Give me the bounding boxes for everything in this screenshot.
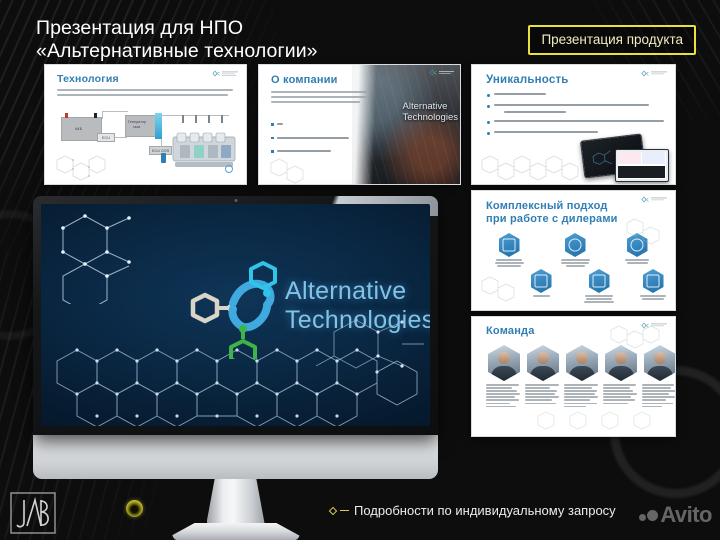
monitor-stand-base bbox=[172, 523, 300, 540]
slide-title-line-2: при работе с дилерами bbox=[486, 213, 618, 226]
list-item bbox=[271, 123, 349, 126]
graduation-cap-hex-icon bbox=[531, 269, 552, 293]
document-hex-icon bbox=[499, 233, 520, 257]
molecule-logo-icon bbox=[167, 259, 287, 359]
bullet-dot-icon bbox=[271, 123, 274, 126]
team-member-bio bbox=[486, 384, 522, 407]
avatar bbox=[488, 345, 520, 381]
monitor-bezel: Alternative Technologies bbox=[33, 196, 438, 435]
engine-illustration bbox=[171, 131, 237, 176]
slide-title: Уникальность bbox=[486, 74, 569, 86]
slide-thumbnail-team[interactable]: Команда bbox=[471, 316, 676, 437]
approach-item-caption bbox=[638, 295, 668, 300]
footnote-text: Подробности по индивидуальному запросу bbox=[354, 503, 616, 518]
bullet-dot-icon bbox=[271, 137, 274, 140]
team-member bbox=[486, 345, 522, 409]
avatar bbox=[527, 345, 559, 381]
list-item bbox=[487, 93, 662, 97]
bullet-dot-icon bbox=[487, 121, 490, 124]
slide-thumbnail-dealer-approach[interactable]: Комплексный подход при работе с дилерами bbox=[471, 190, 676, 311]
title-line-1: Презентация для НПО bbox=[36, 17, 318, 40]
webcam-icon bbox=[234, 199, 237, 202]
approach-item-caption bbox=[584, 295, 614, 303]
monitor-chin bbox=[33, 435, 438, 479]
slide-title-line-1: Комплексный подход bbox=[486, 200, 618, 213]
company-logo-icon bbox=[640, 69, 670, 80]
monitor-screen[interactable]: Alternative Technologies bbox=[41, 204, 430, 426]
slide-title: Команда bbox=[486, 325, 535, 337]
brand-text: Alternative Technologies bbox=[285, 277, 430, 335]
hexagon-pattern-icon bbox=[476, 153, 596, 185]
list-item bbox=[271, 137, 349, 140]
studio-monogram-logo bbox=[10, 492, 56, 534]
avatar bbox=[566, 345, 598, 381]
hexagon-pattern-icon bbox=[51, 153, 111, 185]
company-logo-icon bbox=[640, 195, 670, 206]
approach-item bbox=[638, 269, 668, 301]
workflow-hex-icon bbox=[643, 269, 664, 293]
team-member bbox=[603, 345, 639, 406]
approach-item bbox=[494, 233, 524, 268]
page-title: Презентация для НПО «Альтернативные техн… bbox=[36, 17, 318, 63]
slide-thumbnail-technology[interactable]: Технология АКБ ECU Генератор газа ECU GG… bbox=[44, 64, 247, 185]
photo-brand-text: Alternative Technologies bbox=[403, 101, 458, 123]
company-logo-icon bbox=[428, 68, 458, 79]
hexagon-pattern-icon bbox=[267, 157, 321, 185]
hexagon-pattern-icon bbox=[605, 323, 669, 353]
approach-item-caption bbox=[560, 259, 590, 267]
bullet-dot-icon bbox=[487, 132, 490, 135]
bullet-dot-icon bbox=[271, 150, 274, 153]
product-presentation-badge: Презентация продукта bbox=[528, 25, 696, 55]
list-item bbox=[487, 120, 662, 124]
hexagon-network-icon bbox=[55, 212, 165, 304]
approach-item bbox=[560, 233, 590, 268]
slide-title: О компании bbox=[271, 74, 338, 86]
approach-item bbox=[584, 269, 614, 304]
team-member-bio bbox=[642, 384, 676, 407]
team-member-bio bbox=[564, 384, 600, 407]
team-member bbox=[642, 345, 676, 409]
list-item bbox=[271, 150, 349, 153]
company-logo-icon bbox=[211, 69, 241, 80]
slide-thumbnail-uniqueness[interactable]: Уникальность bbox=[471, 64, 676, 185]
gear-hand-hex-icon bbox=[565, 233, 586, 257]
brand-line-1: Alternative bbox=[285, 277, 430, 306]
avito-watermark: Avito bbox=[639, 502, 712, 528]
hexagon-pattern-icon bbox=[621, 215, 671, 255]
approach-item-caption bbox=[494, 259, 524, 267]
approach-item-caption bbox=[622, 259, 652, 264]
slide-title: Комплексный подход при работе с дилерами bbox=[486, 200, 618, 226]
dash-icon bbox=[340, 510, 349, 511]
hexagon-pattern-icon bbox=[476, 271, 532, 311]
footnote: Подробности по индивидуальному запросу bbox=[330, 503, 616, 518]
hexagon-pattern-icon bbox=[532, 409, 662, 437]
yellow-dot-decoration bbox=[126, 500, 143, 517]
slide-thumbnail-about-company[interactable]: Alternative Technologies О компании bbox=[258, 64, 461, 185]
avito-dots-icon bbox=[639, 510, 659, 521]
tablet-illustration bbox=[615, 149, 669, 182]
brand-line-2: Technologies bbox=[285, 306, 430, 335]
diamond-bullet-icon bbox=[329, 506, 337, 514]
team-member bbox=[564, 345, 600, 409]
bullet-dot-icon bbox=[487, 105, 490, 108]
office-photo bbox=[352, 65, 460, 185]
bullet-dot-icon bbox=[487, 94, 490, 97]
team-member-bio bbox=[603, 384, 639, 404]
team-member bbox=[525, 345, 561, 406]
title-line-2: «Альтернативные технологии» bbox=[36, 40, 318, 63]
slide-body-text bbox=[271, 91, 367, 106]
toolbox-hex-icon bbox=[589, 269, 610, 293]
monitor-mockup: Alternative Technologies bbox=[33, 196, 438, 540]
brand-logo: Alternative Technologies bbox=[167, 259, 417, 369]
monitor-stand-neck bbox=[207, 479, 265, 523]
list-item bbox=[487, 104, 662, 113]
avito-wordmark: Avito bbox=[660, 502, 712, 528]
slide-body-text bbox=[57, 89, 233, 99]
team-member-bio bbox=[525, 384, 561, 404]
slide-title: Технология bbox=[57, 73, 119, 85]
